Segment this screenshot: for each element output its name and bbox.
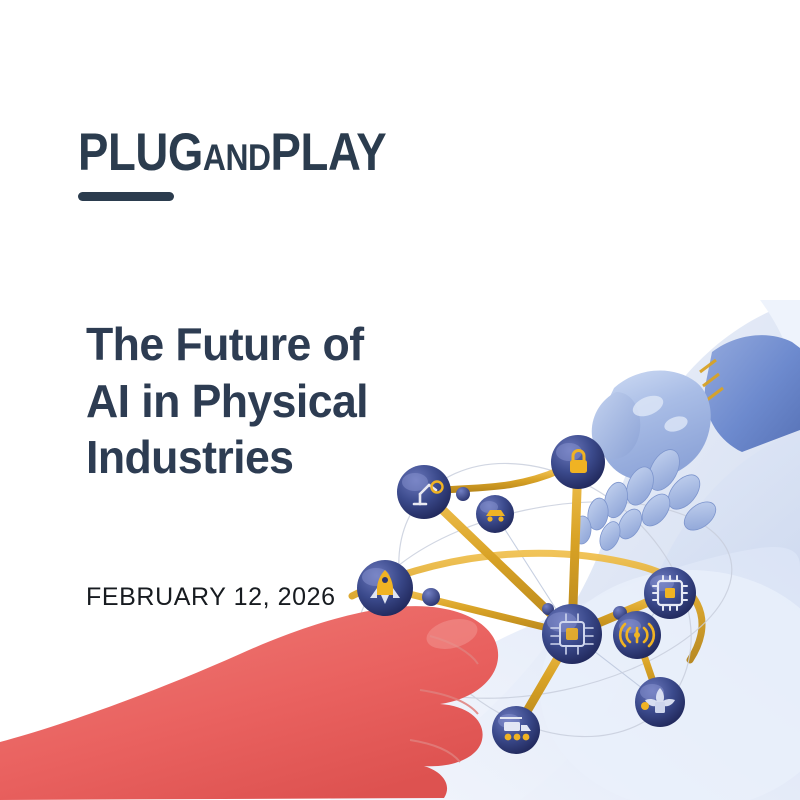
brand-logo[interactable]: PLUGANDPLAY xyxy=(78,126,436,179)
poster-canvas: PLUGANDPLAY The Future of AI in Physical… xyxy=(0,0,800,800)
headline-line-2: AI in Physical xyxy=(86,373,493,430)
headline-line-1: The Future of xyxy=(86,316,493,373)
logo-play: PLAY xyxy=(271,123,387,182)
page-title: The Future of AI in Physical Industries xyxy=(86,316,506,486)
logo-underline-rule xyxy=(78,192,174,201)
logo-wordmark: PLUGANDPLAY xyxy=(78,126,386,179)
headline-line-3: Industries xyxy=(86,429,493,486)
event-date: FEBRUARY 12, 2026 xyxy=(86,583,336,612)
logo-plug: PLUG xyxy=(78,123,203,182)
logo-and: AND xyxy=(203,137,271,178)
